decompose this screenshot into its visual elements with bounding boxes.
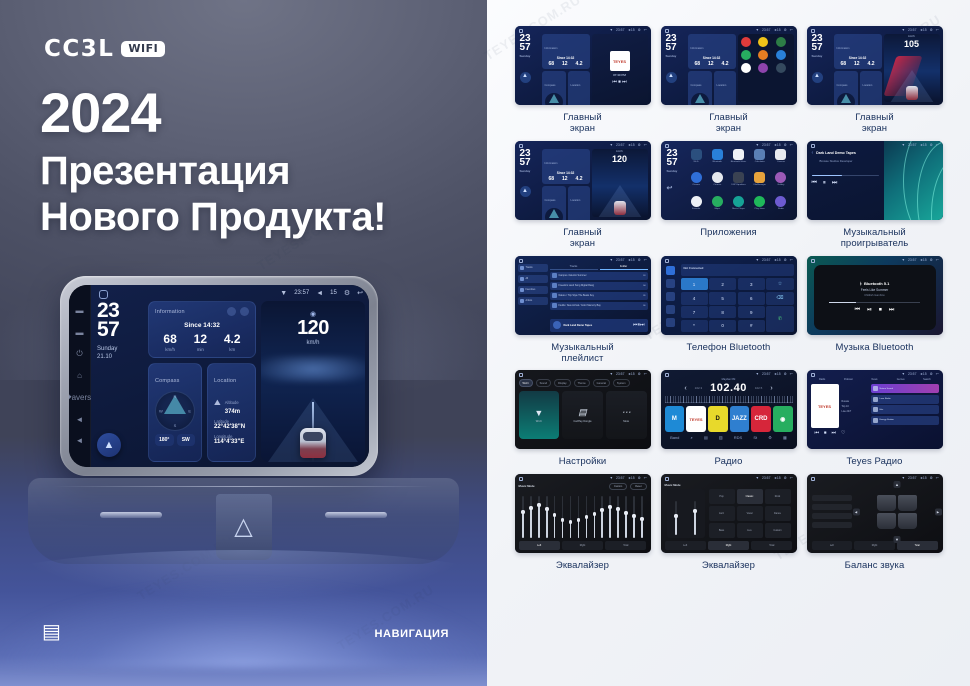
speed-unit: km/h — [884, 34, 940, 38]
status-bar: ▼23:57◄15⚙↩ — [610, 258, 647, 262]
balance-footer-tabs[interactable]: Left Right Total — [812, 541, 938, 550]
dial-key[interactable]: # — [738, 320, 765, 332]
tab[interactable]: Tracks — [550, 264, 598, 270]
gallery-item-home-drive-105[interactable]: 23 57 Sunday ▲ Information Since 14:32 — [807, 26, 943, 135]
app-tile: Karaoke — [687, 196, 706, 217]
tab[interactable]: Folder — [600, 264, 648, 270]
eq-band-sliders[interactable] — [667, 489, 705, 538]
trip-duration-unit: min — [194, 347, 207, 352]
frequency-scale[interactable] — [665, 396, 793, 403]
play-pause-icon[interactable]: ⏯ — [867, 307, 872, 314]
menu-icon[interactable]: ▬ — [76, 329, 84, 337]
thumbnail[interactable]: Music Mode Custom Reset Left Right Total — [515, 474, 651, 553]
list-icon[interactable]: ▤ — [704, 435, 708, 440]
eq-preset[interactable]: Custom — [765, 523, 791, 538]
eq-preset-grid[interactable]: Pop Classic Rock Jazz Vocal Dance Bass L… — [709, 489, 791, 538]
speed-unit: km/h — [261, 340, 365, 346]
rds-icon[interactable]: RDS — [734, 435, 742, 440]
preset[interactable]: JAZZ — [730, 406, 750, 432]
settings-tabs[interactable]: Wi-Fi Sound Display Theme General System — [519, 379, 647, 387]
app-shortcut-grid[interactable] — [741, 37, 791, 73]
car-window — [303, 432, 323, 441]
eq-slider[interactable] — [624, 496, 627, 538]
mountain-icon: ⛰ — [214, 398, 221, 408]
tab[interactable]: Total — [897, 541, 938, 550]
tab[interactable]: Wi-Fi — [519, 379, 533, 387]
preset[interactable]: ◉ — [773, 406, 793, 432]
call-history-icon[interactable] — [666, 305, 675, 314]
home-indicator-icon — [811, 29, 815, 33]
product-logo: CC3L WIFI — [44, 36, 165, 62]
settings-icon[interactable] — [227, 307, 236, 316]
layers-icon[interactable]: ▤ — [42, 622, 61, 642]
tab[interactable]: Podcast — [837, 378, 860, 381]
hazard-triangle-icon: △ — [234, 515, 252, 539]
dial-key[interactable]: 0 — [709, 320, 736, 332]
eq-slider[interactable] — [553, 496, 556, 538]
balance-down-button[interactable]: ▼ — [894, 536, 901, 543]
gallery-caption: Главныйэкран — [563, 112, 602, 135]
track-title: Dark Land Demo Tapes — [564, 324, 593, 327]
more-icon: ⋯ — [622, 407, 631, 418]
status-bar: ▼23:57◄15⚙↩ — [902, 258, 939, 262]
gallery-item-apps[interactable]: 23 57 Sunday ↩ Wi-Fi Bluetooth Bluetooth… — [661, 141, 797, 250]
trip-duration: 12 — [194, 333, 207, 345]
player-controls[interactable]: ⏮ ⏯ ⏹ ⏭ — [855, 307, 895, 314]
home-indicator-icon — [519, 29, 523, 33]
dialer-display: Not Connected Dial — [681, 264, 794, 276]
eq-preset[interactable]: Live — [737, 523, 763, 538]
eq-slider[interactable] — [585, 496, 588, 538]
tab[interactable]: General — [593, 379, 610, 387]
tab[interactable]: System — [613, 379, 630, 387]
eq-slider[interactable] — [537, 496, 540, 538]
clock-column: 23 57 Sunday 21.10 ▲ — [97, 301, 143, 462]
list-item: Energy Station — [871, 416, 939, 425]
seat-rear-left — [877, 513, 896, 529]
trip-distance: 4.2 — [224, 333, 241, 345]
app-tile: DSP Equalizer — [729, 172, 748, 193]
clock-weekday: Sunday — [97, 345, 143, 353]
thumbnail[interactable]: Not Connected Dial 1 2 3 ☆ 4 5 — [661, 256, 797, 335]
search-icon[interactable]: ⌕ — [691, 435, 693, 440]
gallery-item-equalizer-2[interactable]: Music Mode Pop Classic Rock Jazz Vocal D… — [661, 474, 797, 571]
eq-preset[interactable]: Rock — [765, 489, 791, 504]
information-title: Information — [545, 47, 558, 50]
eq-footer-tabs[interactable]: Left Right Total — [665, 541, 793, 550]
back-icon[interactable]: ↩ — [357, 289, 363, 297]
eq-reset-button[interactable]: Reset — [630, 483, 646, 490]
station-list[interactable]: Nature Sound Love Radio Hits Energy Stat… — [871, 384, 939, 428]
dialpad[interactable]: 1 2 3 ☆ 4 5 6 ⌫ 7 8 — [681, 278, 794, 332]
eq-slider[interactable] — [522, 496, 525, 538]
backspace-icon[interactable]: ⌫ — [766, 292, 793, 305]
call-icon[interactable]: ✆ — [766, 306, 793, 331]
settings-card-wifi[interactable]: ▼ Wi-Fi — [519, 391, 560, 439]
dongle-icon: ▤ — [578, 407, 587, 418]
thumbnail[interactable]: 23 57 Sunday ▲ Information Since 14:32 — [807, 26, 943, 105]
eq-slider[interactable] — [632, 496, 635, 538]
car-icon — [300, 428, 326, 458]
thumbnail[interactable]: Music Mode Pop Classic Rock Jazz Vocal D… — [661, 474, 797, 553]
app-tile: Chrome — [687, 172, 706, 193]
preset[interactable]: D — [708, 406, 728, 432]
dial-key[interactable]: 9 — [738, 306, 765, 318]
gallery-caption: Главныйэкран — [855, 112, 894, 135]
eq-slider[interactable] — [593, 496, 596, 538]
clock-date: 21.10 — [97, 353, 143, 361]
gallery-item-music-player[interactable]: ‹ Dark Land Demo Tapes Browse Studios De… — [807, 141, 943, 250]
gallery-row: Wi-Fi Sound Display Theme General System… — [501, 370, 956, 467]
tab[interactable]: Total — [605, 541, 646, 550]
headline-year: 2024 — [40, 84, 460, 141]
tab[interactable]: Sound — [536, 379, 552, 387]
gallery-row: 23 57 Sunday ▲ Information Since 14:32 — [501, 141, 956, 250]
status-bar: ▼23:57◄15⚙↩ — [610, 372, 647, 376]
mini-stat: 12 — [562, 61, 568, 67]
eq-slider[interactable] — [577, 496, 580, 538]
loc-icon[interactable]: St — [753, 435, 757, 440]
eq-slider[interactable] — [601, 496, 604, 538]
power-icon[interactable]: ⏻ — [76, 350, 82, 358]
speed-value: 120 — [261, 318, 365, 338]
volume-up-icon[interactable]: ◄ — [76, 437, 84, 445]
search-icon[interactable] — [666, 292, 675, 301]
thumbnail[interactable]: Radio Podcast News Genres Search TEYES R… — [807, 370, 943, 449]
status-bar: ▼23:57◄15⚙↩ — [610, 28, 647, 32]
tab[interactable]: Genres — [889, 378, 912, 381]
tab[interactable]: Radio — [811, 378, 834, 381]
speed-readout: ◉ 120 km/h — [261, 310, 365, 346]
track-title: Dark Land Demo Tapes — [816, 151, 856, 155]
eq-slider[interactable] — [640, 496, 643, 538]
player-controls[interactable]: ⏮ ⏹ ⏭ ♡ — [811, 430, 939, 436]
compass-east: E — [188, 409, 191, 414]
list-item: Favorites — [518, 286, 548, 294]
gear-icon[interactable]: ⚙ — [344, 289, 350, 297]
tab[interactable]: Right — [708, 541, 749, 550]
gallery-caption: Музыка Bluetooth — [836, 342, 914, 353]
home-indicator-icon — [665, 259, 669, 263]
player-controls[interactable]: ⏮⏸⏭ — [633, 322, 645, 328]
status-bar: ▼23:57◄15⚙↩ — [902, 476, 939, 480]
car-icon — [906, 86, 918, 100]
mini-player[interactable]: Dark Land Demo Tapes ⏮⏸⏭ — [550, 319, 648, 332]
preset[interactable]: TEYES — [686, 406, 706, 432]
seat-front-right — [898, 495, 917, 511]
dial-key[interactable]: 4 — [681, 292, 708, 305]
home-indicator-icon — [665, 29, 669, 33]
balance-row — [812, 495, 852, 501]
location-title: Location — [214, 378, 236, 384]
home-indicator-icon — [519, 144, 523, 148]
balance-row — [812, 522, 852, 528]
dial-key[interactable]: 1 — [681, 278, 708, 291]
gallery-item-playlist[interactable]: Tracks All Favorites Artists Tracks Fold… — [515, 256, 651, 365]
home-indicator-icon — [811, 144, 815, 148]
speed-unit: km/h — [592, 149, 648, 153]
eq-preset[interactable]: Pop — [709, 489, 735, 504]
gallery-item-settings[interactable]: Wi-Fi Sound Display Theme General System… — [515, 370, 651, 467]
eq-slider[interactable] — [617, 496, 620, 538]
radio-presets[interactable]: M TEYES D JAZZ CRD ◉ — [665, 406, 793, 432]
head-unit-bezel: ▬ ▬ ⏻ ⌂ �averse ◄ ◄ ▼ 23:57 ◄ — [60, 276, 378, 476]
settings-icon[interactable] — [666, 318, 675, 327]
vent-slot-right — [325, 512, 387, 518]
status-bar: ▼23:57◄15⚙↩ — [756, 258, 793, 262]
head-unit-screen[interactable]: ▼ 23:57 ◄ 15 ⚙ ↩ 23 57 — [91, 285, 369, 467]
app-tile: Camera — [771, 149, 790, 170]
presentation-page: TEYES.COM.RU TEYES.COM.RU TEYES.COM.RU C… — [0, 0, 970, 686]
settings-icon[interactable]: ⚙ — [768, 435, 772, 440]
trip-distance-unit: km — [224, 347, 241, 352]
dial-key[interactable]: 2 — [709, 278, 736, 291]
eq-slider[interactable] — [529, 496, 532, 538]
gallery-item-home-music[interactable]: 23 57 Sunday ▲ Information Since 14:32 — [515, 26, 651, 135]
gallery-caption: Эквалайзер — [702, 560, 755, 571]
status-time: 23:57 — [294, 290, 309, 296]
list-item: All — [518, 275, 548, 283]
app-tile: Play Store — [750, 196, 769, 217]
eq-preset[interactable]: Jazz — [709, 506, 735, 521]
balance-pad[interactable]: ▲ ▼ ◄ ► — [857, 483, 938, 541]
screenshot-gallery: TEYES.COM.RU TEYES.COM.RU TEYES.COM.RU T… — [487, 0, 970, 686]
favorite-icon[interactable]: ♡ — [841, 430, 845, 436]
gallery-item-home-drive-120[interactable]: 23 57 Sunday ▲ Information Since 14:32 — [515, 141, 651, 250]
thumbnail[interactable]: 23 57 Sunday ▲ Information Since 14:32 — [661, 26, 797, 105]
app-tile: Gallery — [771, 172, 790, 193]
thumbnail[interactable]: ▲ ▼ ◄ ► Left Right Total — [807, 474, 943, 553]
altitude-label: Altitude — [225, 400, 239, 405]
thumbnail[interactable]: Wi-Fi Sound Display Theme General System… — [515, 370, 651, 449]
wifi-icon: ▼ — [280, 290, 287, 297]
thumbnail[interactable]: ‹ Dark Land Demo Tapes Browse Studios De… — [807, 141, 943, 220]
gallery-item-equalizer-10[interactable]: Music Mode Custom Reset Left Right Total — [515, 474, 651, 571]
navigation-icon[interactable]: ▲ — [520, 186, 531, 197]
dial-key[interactable]: 7 — [681, 306, 708, 318]
vent-highlight-line — [54, 486, 433, 487]
volume-icon[interactable]: ◄ — [316, 290, 323, 297]
compass-heading: 180° — [155, 434, 174, 446]
playlist-tabs[interactable]: Tracks Folder — [550, 264, 648, 270]
contacts-icon[interactable] — [666, 279, 675, 288]
road-view: 105 km/h — [884, 34, 940, 102]
trip-avg-speed-unit: km/h — [163, 347, 176, 352]
track-artist: Browse Studios Developer — [812, 159, 879, 163]
playlist-sidebar[interactable]: Tracks All Favorites Artists — [518, 264, 548, 332]
station-meta: RussiaTop 10Live 24/7 — [842, 384, 868, 428]
eq-preset[interactable]: Dance — [765, 506, 791, 521]
gallery-caption: Главныйэкран — [709, 112, 748, 135]
thumbnail[interactable]: 23 57 Sunday ▲ Information Since 14:32 — [515, 26, 651, 105]
app-tile: Music Player — [729, 196, 748, 217]
thumbnail[interactable]: 23 57 Sunday ▲ Information Since 14:32 — [515, 141, 651, 220]
stop-icon[interactable]: ⏹ — [824, 430, 827, 436]
gallery-item-bt-music[interactable]: ᚼ Bluetooth 5.1 Feels Like Summer Childi… — [807, 256, 943, 365]
tab[interactable]: Left — [812, 541, 853, 550]
list-item: Love Radio — [871, 395, 939, 404]
dial-key[interactable]: 5 — [709, 292, 736, 305]
tab[interactable]: Right — [854, 541, 895, 550]
eq-slider[interactable] — [609, 496, 612, 538]
pause-icon[interactable]: ⏸ — [823, 180, 826, 187]
band-icon[interactable]: Band — [670, 435, 679, 440]
eq-band-sliders[interactable] — [519, 492, 647, 541]
dialer-sidebar[interactable] — [664, 264, 678, 332]
next-icon[interactable]: ⏭ — [832, 430, 837, 436]
balance-left-button[interactable]: ◄ — [853, 508, 860, 515]
next-station-icon[interactable]: › — [770, 385, 772, 392]
eq-mode-label: Music Mode — [665, 483, 681, 487]
eq-preset[interactable]: Classic — [737, 489, 763, 504]
settings-card-carplay[interactable]: ▤ CarPlay Dongle — [562, 391, 603, 439]
dial-key[interactable]: 8 — [709, 306, 736, 318]
favorite-icon[interactable]: ☆ — [766, 278, 793, 291]
eq-slider[interactable] — [675, 501, 678, 535]
tab[interactable]: Search — [915, 378, 938, 381]
tab[interactable]: Total — [751, 541, 792, 550]
car-dashboard-illustration: ▬ ▬ ⏻ ⌂ �averse ◄ ◄ ▼ 23:57 ◄ — [0, 250, 487, 686]
tab[interactable]: Left — [519, 541, 560, 550]
progress-bar[interactable] — [829, 302, 919, 303]
tab[interactable]: Display — [554, 379, 571, 387]
eq-preset[interactable]: Vocal — [737, 506, 763, 521]
seat-rear-right — [898, 513, 917, 529]
gallery-item-home-apps[interactable]: 23 57 Sunday ▲ Information Since 14:32 — [661, 26, 797, 135]
tab[interactable]: News — [863, 378, 886, 381]
previous-icon[interactable]: ⏮ — [812, 180, 817, 187]
navigation-icon[interactable]: ▲ — [812, 72, 823, 83]
compass-direction: SW — [177, 434, 196, 446]
balance-up-button[interactable]: ▲ — [894, 481, 901, 488]
home-indicator-icon — [811, 477, 815, 481]
thumbnail[interactable]: 23 57 Sunday ↩ Wi-Fi Bluetooth Bluetooth… — [661, 141, 797, 220]
album-art: TEYES — [610, 51, 630, 71]
gallery-item-radio[interactable]: Maydan FM ‹ 102.3 102.40 102.5 › M — [661, 370, 797, 467]
status-bar: ▼23:57◄15⚙↩ — [902, 143, 939, 147]
gallery-item-teyes-radio[interactable]: Radio Podcast News Genres Search TEYES R… — [807, 370, 943, 467]
tab[interactable]: Left — [665, 541, 706, 550]
gallery-caption: Teyes Радио — [847, 456, 903, 467]
logo-model: CC3L — [44, 36, 114, 62]
next-icon[interactable]: ⏭ — [832, 180, 837, 187]
tab[interactable]: Right — [562, 541, 603, 550]
apps-icon[interactable]: ▦ — [783, 435, 787, 440]
previous-station-icon[interactable]: ‹ — [684, 385, 686, 392]
dial-key[interactable]: 3 — [738, 278, 765, 291]
dialpad-icon[interactable] — [666, 266, 675, 275]
back-icon[interactable]: ↩ — [667, 186, 687, 192]
location-card[interactable]: Location ⛰ Altitude 374m — [207, 363, 256, 462]
eq-icon[interactable]: ▥ — [719, 435, 723, 440]
bluetooth-player-card: ᚼ Bluetooth 5.1 Feels Like Summer Childi… — [814, 265, 936, 330]
head-unit-screen-frame: ▬ ▬ ⏻ ⌂ �averse ◄ ◄ ▼ 23:57 ◄ — [69, 285, 369, 467]
radio-toolbar[interactable]: Band ⌕ ▤ ▥ RDS St ⚙ ▦ — [665, 435, 793, 440]
stop-icon[interactable]: ⏹ — [879, 307, 882, 314]
preset[interactable]: CRD — [751, 406, 771, 432]
compass-west: W — [159, 409, 163, 414]
mini-stat: 4.2 — [576, 61, 583, 67]
compass-card: Compass — [542, 71, 566, 105]
gallery-item-dialer[interactable]: Not Connected Dial 1 2 3 ☆ 4 5 — [661, 256, 797, 365]
eq-preset[interactable]: Bass — [709, 523, 735, 538]
home-indicator-icon[interactable] — [99, 290, 108, 299]
eq-slider[interactable] — [545, 496, 548, 538]
home-indicator-icon — [519, 477, 523, 481]
track-time: 07:30 PM — [613, 73, 626, 77]
information-card[interactable]: Information Since 14:32 — [148, 301, 256, 358]
expand-icon[interactable] — [240, 307, 249, 316]
list-item: Nature Sound — [871, 384, 939, 393]
balance-right-button[interactable]: ► — [935, 508, 942, 515]
preset[interactable]: M — [665, 406, 685, 432]
track-artist: Childish Gambino — [864, 294, 884, 297]
progress-bar[interactable] — [812, 175, 879, 176]
status-bar: ▼23:57◄15⚙↩ — [902, 28, 939, 32]
player-controls[interactable]: ⏮ ⏹ ⏭ — [612, 79, 626, 85]
radio-frequency: 102.40 — [710, 382, 747, 394]
trip-stats: 68 km/h 12 min 4.2 — [155, 333, 249, 352]
mic-icon[interactable]: ▬ — [76, 307, 84, 315]
gallery-item-balance[interactable]: ▲ ▼ ◄ ► Left Right Total — [807, 474, 943, 571]
teyes-radio-tabs[interactable]: Radio Podcast News Genres Search — [811, 378, 939, 381]
status-bar: ▼23:57◄15⚙↩ — [610, 476, 647, 480]
gallery-row: Music Mode Custom Reset Left Right Total — [501, 474, 956, 571]
next-icon[interactable]: ⏭ — [889, 307, 894, 314]
eq-slider[interactable] — [569, 496, 572, 538]
volume-down-icon[interactable]: ◄ — [76, 416, 84, 424]
app-tile: Carmen — [708, 172, 727, 193]
thumbnail[interactable]: Maydan FM ‹ 102.3 102.40 102.5 › M — [661, 370, 797, 449]
navigation-icon[interactable]: ▲ — [97, 433, 121, 457]
headline: 2024 Презентация Нового Продукта! — [40, 84, 460, 240]
home-indicator-icon — [665, 477, 669, 481]
app-grid[interactable]: Wi-Fi Bluetooth Bluetooth Music Calculat… — [687, 149, 793, 217]
thumbnail[interactable]: Tracks All Favorites Artists Tracks Fold… — [515, 256, 651, 335]
dial-key[interactable]: * — [681, 320, 708, 332]
gallery-caption: Эквалайзер — [556, 560, 609, 571]
dial-key[interactable]: 6 — [738, 292, 765, 305]
navigation-icon[interactable]: ▲ — [666, 72, 677, 83]
compass-card[interactable]: Compass N S W E — [148, 363, 202, 462]
information-title: Information — [155, 309, 185, 315]
eq-preset-button[interactable]: Custom — [609, 483, 627, 490]
bluetooth-title: ᚼ Bluetooth 5.1 — [860, 281, 890, 286]
home-indicator-icon — [519, 259, 523, 263]
eq-footer-tabs[interactable]: Left Right Total — [519, 541, 647, 550]
thumbnail[interactable]: ᚼ Bluetooth 5.1 Feels Like Summer Childi… — [807, 256, 943, 335]
home-icon[interactable]: ⌂ — [77, 372, 82, 380]
previous-icon[interactable]: ⏮ — [815, 430, 820, 436]
navigation-icon[interactable]: ▲ — [520, 72, 531, 83]
player-controls[interactable]: ⏮ ⏸ ⏭ — [812, 180, 879, 187]
app-tile: FileManager — [750, 172, 769, 193]
gallery-caption: Приложения — [700, 227, 757, 238]
eq-slider[interactable] — [694, 501, 697, 535]
gallery-caption: Главныйэкран — [563, 227, 602, 250]
settings-card-more[interactable]: ⋯ More — [606, 391, 647, 439]
drive-widget[interactable]: ◉ 120 km/h — [261, 301, 365, 462]
table-row: Campus / Electro Summer03 — [550, 272, 648, 280]
previous-icon[interactable]: ⏮ — [855, 307, 860, 314]
speed-value: 105 — [884, 39, 940, 49]
side-button-strip[interactable]: ▬ ▬ ⏻ ⌂ �averse ◄ ◄ — [69, 285, 91, 467]
eq-slider[interactable] — [561, 496, 564, 538]
back-icon[interactable]: ‹ — [812, 150, 814, 156]
widgets-column: Information Since 14:32 — [148, 301, 256, 462]
tab[interactable]: Theme — [574, 379, 590, 387]
trip-avg-speed: 68 — [163, 333, 176, 345]
